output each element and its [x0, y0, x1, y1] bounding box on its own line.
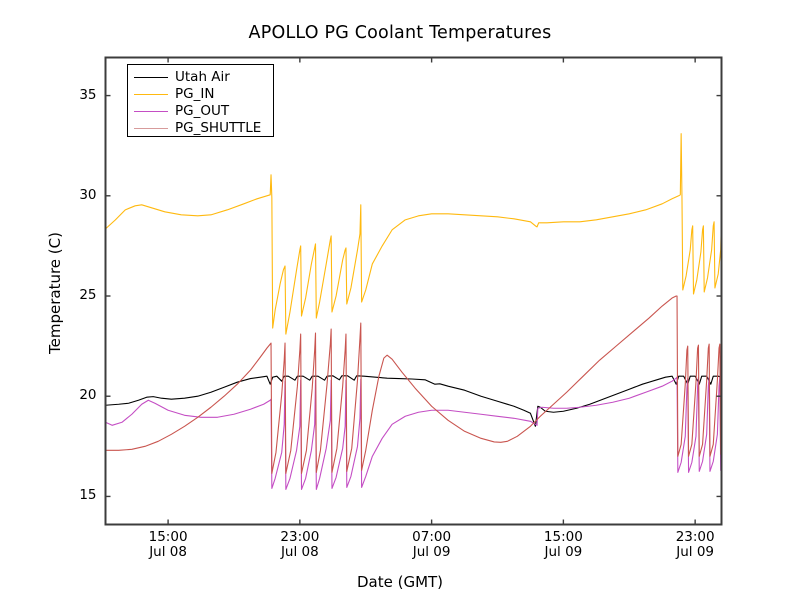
legend-label: PG_SHUTTLE [175, 120, 261, 136]
series-group [106, 134, 722, 490]
x-tick-time: 15:00 [518, 530, 608, 546]
x-tick-time: 23:00 [255, 530, 345, 546]
x-tick-time: 07:00 [387, 530, 477, 546]
series-line-pg-in [106, 134, 722, 334]
y-axis-label: Temperature (C) [46, 143, 64, 443]
y-tick-label: 35 [57, 87, 97, 103]
x-tick-date: Jul 08 [255, 545, 345, 561]
plot-area [0, 0, 800, 600]
legend-item-utah-air[interactable]: Utah Air [128, 69, 273, 86]
x-axis-label: Date (GMT) [0, 573, 800, 591]
series-line-pg-shuttle [106, 296, 722, 473]
legend-color-swatch [134, 111, 168, 112]
series-line-utah-air [106, 376, 722, 427]
legend-color-swatch [134, 77, 168, 78]
legend-color-swatch [134, 128, 168, 129]
legend-label: PG_OUT [175, 103, 229, 119]
chart-legend: Utah AirPG_INPG_OUTPG_SHUTTLE [127, 64, 274, 137]
x-tick-label: 07:00Jul 09 [387, 530, 477, 561]
x-tick-date: Jul 09 [387, 545, 477, 561]
legend-item-pg-in[interactable]: PG_IN [128, 86, 273, 103]
legend-color-swatch [134, 94, 168, 95]
x-tick-label: 15:00Jul 09 [518, 530, 608, 561]
x-tick-date: Jul 09 [518, 545, 608, 561]
series-line-pg-out [106, 377, 722, 489]
x-tick-date: Jul 09 [650, 545, 740, 561]
legend-item-pg-out[interactable]: PG_OUT [128, 103, 273, 120]
x-tick-time: 23:00 [650, 530, 740, 546]
legend-item-pg-shuttle[interactable]: PG_SHUTTLE [128, 120, 273, 137]
legend-label: PG_IN [175, 86, 214, 102]
x-tick-label: 23:00Jul 08 [255, 530, 345, 561]
x-tick-date: Jul 08 [123, 545, 213, 561]
chart-figure: APOLLO PG Coolant Temperatures 152025303… [0, 0, 800, 600]
x-tick-label: 15:00Jul 08 [123, 530, 213, 561]
x-tick-time: 15:00 [123, 530, 213, 546]
y-tick-label: 15 [57, 487, 97, 503]
legend-label: Utah Air [175, 69, 230, 85]
x-tick-label: 23:00Jul 09 [650, 530, 740, 561]
